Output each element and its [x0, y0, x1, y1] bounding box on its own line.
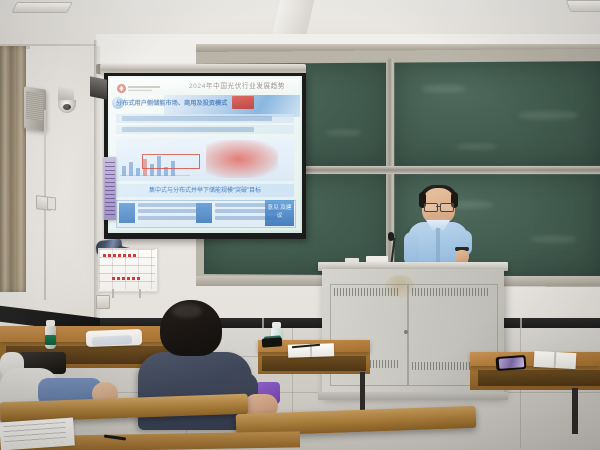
smartphone[interactable] — [262, 337, 283, 347]
ceiling-light-fixture — [11, 2, 72, 13]
schedule-hook — [139, 289, 141, 298]
smartphone-screen[interactable] — [499, 357, 525, 369]
bottle-label — [45, 335, 56, 345]
schedule-red-row — [112, 277, 140, 280]
classroom-scene: 2024年中国光伏行业发展趋势 分布式用户侧储能市场、商用及投资模式 — [0, 0, 600, 450]
ceiling-light-fixture — [566, 0, 600, 12]
screen-glare — [108, 76, 302, 233]
power-outlet — [96, 295, 110, 309]
glasses-icon — [424, 203, 438, 212]
speaker-grill — [26, 91, 43, 122]
bottle-cap — [46, 320, 55, 326]
desk-leg — [360, 372, 365, 412]
glasses-bridge — [436, 206, 440, 207]
podium-base — [318, 392, 508, 400]
podium-vent — [412, 288, 490, 296]
bottle-cap — [272, 322, 281, 328]
podium-vent — [334, 288, 400, 296]
desk-center-shelf — [262, 356, 366, 371]
speaker-arm-left — [404, 232, 419, 266]
shirt-placket — [436, 228, 440, 266]
hair-highlight — [172, 304, 202, 318]
schedule-hook — [112, 289, 114, 298]
chalkboard-panel-top-right — [394, 61, 600, 166]
window-curtain — [0, 46, 26, 292]
light-switch-secondary[interactable] — [47, 196, 56, 210]
desk-leg — [572, 388, 578, 434]
microphone-icon — [388, 232, 394, 241]
podium-lock-icon[interactable] — [404, 330, 408, 334]
camera-lens-icon — [63, 104, 71, 110]
schedule-red-heading — [103, 254, 137, 257]
wall-poster-text — [105, 162, 115, 216]
desk-right-shelf — [478, 370, 600, 386]
wall-equipment-box — [90, 76, 107, 100]
glasses-icon — [440, 203, 454, 212]
